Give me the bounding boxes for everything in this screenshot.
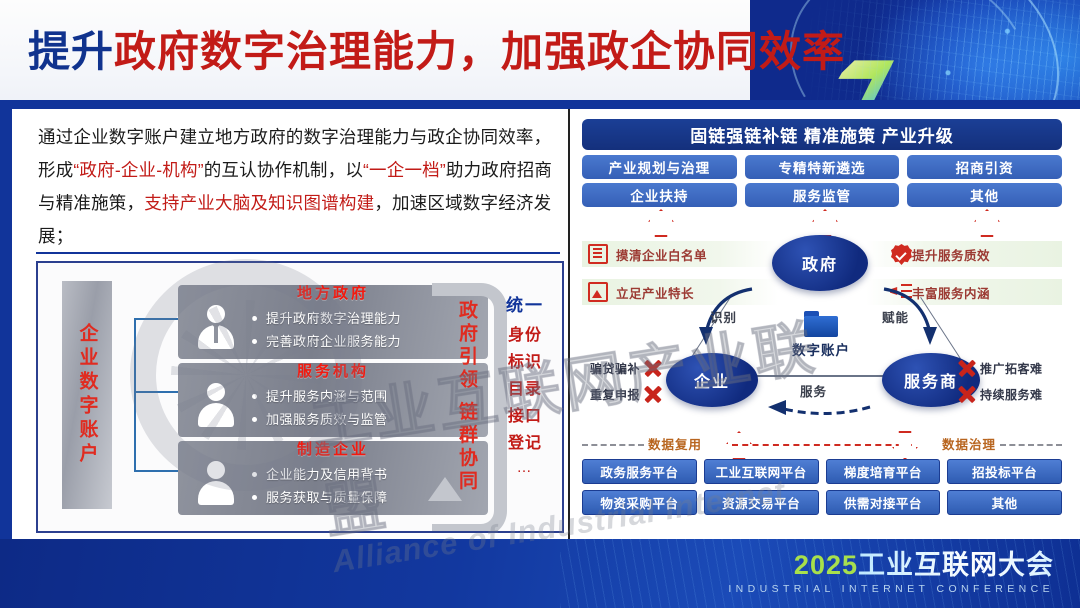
problem-left-1: 骗贷骗补 [590,357,664,379]
arrow-up-icon [812,209,838,237]
right-column: 固链强链补链 精准施策 产业升级 产业规划与治理 专精特新遴选 招商引资 企业扶… [568,109,1080,539]
connector-bracket [134,318,180,472]
upward-arrow-group [582,209,1062,233]
platform-button[interactable]: 供需对接平台 [826,490,941,515]
page-title: 提升政府数字治理能力，加强政企协同效率 [28,18,908,86]
left-side-rail [0,109,12,539]
footer-band: 2025工业互联网大会 INDUSTRIAL INTERNET CONFEREN… [0,539,1080,608]
platform-button[interactable]: 资源交易平台 [704,490,819,515]
cross-icon [642,357,664,379]
dash-line-left [582,444,644,446]
problem-left-1-label: 骗贷骗补 [590,360,640,377]
edge-label-identify: 识别 [710,307,737,326]
cross-icon [956,383,978,405]
triangle-diagram: 摸清企业白名单 立足产业特长 提升服务质效 丰富服务内涵 数字账户 政府 企业 … [582,235,1062,425]
policy-pill[interactable]: 专精特新遴选 [745,155,900,179]
platform-button[interactable]: 工业互联网平台 [704,459,819,484]
conference-name-en: INDUSTRIAL INTERNET CONFERENCE [728,583,1054,595]
lead-seg-4: “一企一档” [363,160,446,180]
left-column: 通过企业数字账户建立地方政府的数字治理能力与政企协同效率，形成“政府-企业-机构… [22,109,562,539]
title-lead: 提升 [28,28,114,75]
arrow-up-icon [974,209,1000,237]
enterprise-account-label: 企业数字账户 [74,323,101,467]
gov-lead-label: 政府引领 链群协同 [446,297,480,497]
arrow-up-icon [648,209,674,237]
connector-stub [134,391,180,393]
slide-root: 提升政府数字治理能力，加强政企协同效率 工业互联网产业联盟 Alliance o… [0,0,1080,608]
platform-button[interactable]: 梯度培育平台 [826,459,941,484]
digital-account-label: 数字账户 [778,339,864,359]
policy-row-2: 企业扶持 服务监管 其他 [582,183,1062,207]
dash-line-middle [732,444,912,446]
person-icon [196,461,236,505]
enterprise-account-bar: 企业数字账户 [62,281,112,509]
platform-button[interactable]: 政务服务平台 [582,459,697,484]
lead-divider [36,252,560,254]
unify-item: 接口 [498,403,552,430]
platform-button[interactable]: 物资采购平台 [582,490,697,515]
problem-left-2-label: 重复申报 [590,386,640,403]
title-highlight: 政府数字治理能力，加强政企协同效率 [114,28,845,75]
lead-seg-3: 的互认协作机制，以 [204,160,363,180]
dataflow-label-left: 数据复用 [648,434,702,453]
conference-name-cn: 工业互联网大会 [858,550,1054,580]
problem-right-2: 持续服务难 [956,383,1043,405]
unify-item: 登记 [498,430,552,457]
title-band: 提升政府数字治理能力，加强政企协同效率 [0,0,1080,104]
lead-paragraph: 通过企业数字账户建立地方政府的数字治理能力与政企协同效率，形成“政府-企业-机构… [38,121,558,253]
node-government[interactable]: 政府 [772,235,868,291]
platform-row-2: 物资采购平台 资源交易平台 供需对接平台 其他 [582,490,1062,515]
platform-button[interactable]: 招投标平台 [947,459,1062,484]
policy-pill[interactable]: 产业规划与治理 [582,155,737,179]
policy-row-1: 产业规划与治理 专精特新遴选 招商引资 [582,155,1062,179]
chart-box-icon [588,282,608,302]
edge-label-empower: 赋能 [882,307,909,326]
policy-pill[interactable]: 企业扶持 [582,183,737,207]
lead-seg-2: “政府-企业-机构” [73,160,203,180]
official-person-icon [196,305,236,349]
problem-right-1-label: 推广拓客难 [980,360,1043,377]
conference-logo: 2025工业互联网大会 INDUSTRIAL INTERNET CONFEREN… [728,549,1054,595]
person-icon [196,383,236,427]
lead-seg-6: 支持产业大脑及知识图谱构建 [144,193,374,213]
conference-year: 2025 [794,550,858,580]
benefit-left-1: 摸清企业白名单 [582,241,778,267]
dataflow-strip: 数据复用 数据治理 [582,431,1062,457]
policy-pill[interactable]: 其他 [907,183,1062,207]
left-diagram: 企业数字账户 地方政府 提升政府数字治理能力 完善政府企业服务能力 服务机构 [36,261,564,533]
content-stage: 工业互联网产业联盟 Alliance of Industrial Interne… [12,109,1080,539]
unify-head: 统一 [498,291,552,316]
platform-row-1: 政务服务平台 工业互联网平台 梯度培育平台 招投标平台 [582,459,1062,484]
cross-icon [642,383,664,405]
conference-title: 2025工业互联网大会 [728,549,1054,581]
policy-pill[interactable]: 招商引资 [907,155,1062,179]
arrow-service-icon [758,397,878,417]
problem-left-2: 重复申报 [590,383,664,405]
node-enterprise[interactable]: 企业 [666,353,758,407]
dash-line-right [1000,444,1062,446]
dataflow-label-right: 数据治理 [942,434,996,453]
policy-banner: 固链强链补链 精准施策 产业升级 [582,119,1062,150]
title-divider [0,100,1080,109]
edge-label-service: 服务 [800,381,827,400]
policy-pill[interactable]: 服务监管 [745,183,900,207]
unify-column: 统一 身份 标识 目录 接口 登记 … [498,291,552,476]
unify-item: 目录 [498,376,552,403]
platform-button[interactable]: 其他 [947,490,1062,515]
unify-more: … [498,459,552,476]
unify-item: 身份 [498,322,552,349]
checklist-icon [588,244,608,264]
folder-icon [804,311,838,337]
problem-right-1: 推广拓客难 [956,357,1043,379]
problem-right-2-label: 持续服务难 [980,386,1043,403]
cross-icon [956,357,978,379]
unify-item: 标识 [498,349,552,376]
